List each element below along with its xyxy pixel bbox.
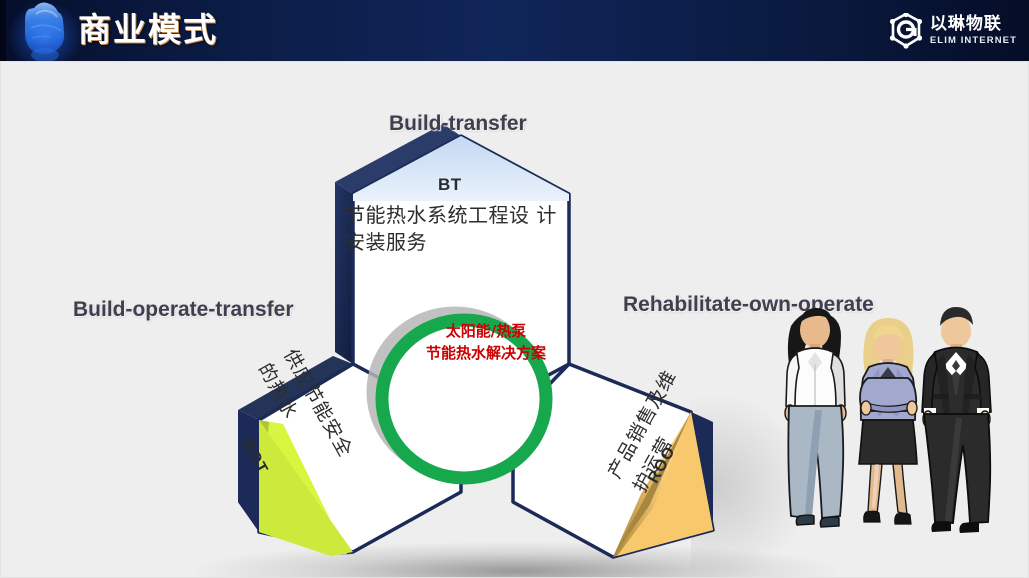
blue-fist-icon xyxy=(14,0,76,61)
hex-tag-bt: BT xyxy=(438,175,462,195)
header-left-accent xyxy=(0,0,6,61)
center-solution-text: 太阳能/热泵 节能热水解决方案 xyxy=(396,321,576,365)
slide-canvas: Build-transfer Build-operate-transfer Re… xyxy=(0,61,1029,578)
page-title: 商业模式 xyxy=(78,8,218,52)
label-build-operate-transfer: Build-operate-transfer xyxy=(73,298,294,322)
figure-man-suit xyxy=(922,307,991,533)
logo-wordmark: 以琳物联 ELIM INTERNET xyxy=(930,16,1017,46)
figure-woman-white-shirt xyxy=(785,308,846,527)
slide-root: 商业模式 以琳物联 ELIM INTERNET xyxy=(0,0,1029,578)
slide-header: 商业模式 以琳物联 ELIM INTERNET xyxy=(0,0,1029,61)
hex-body-bt-line1: 节能热水系统工程设 xyxy=(345,203,530,227)
center-line2: 节能热水解决方案 xyxy=(426,344,546,362)
logo-text-en: ELIM INTERNET xyxy=(930,36,1017,46)
label-build-transfer: Build-transfer xyxy=(389,112,527,136)
center-line1: 太阳能/热泵 xyxy=(446,322,526,340)
brand-logo: 以琳物联 ELIM INTERNET xyxy=(889,11,1017,51)
three-business-people-illustration xyxy=(767,298,1017,558)
elim-logo-mark xyxy=(889,13,923,50)
logo-text-cn: 以琳物联 xyxy=(930,16,1017,33)
figure-woman-blazer xyxy=(859,318,917,524)
hex-body-bt: 节能热水系统工程设 计 安装服务 xyxy=(345,202,571,256)
